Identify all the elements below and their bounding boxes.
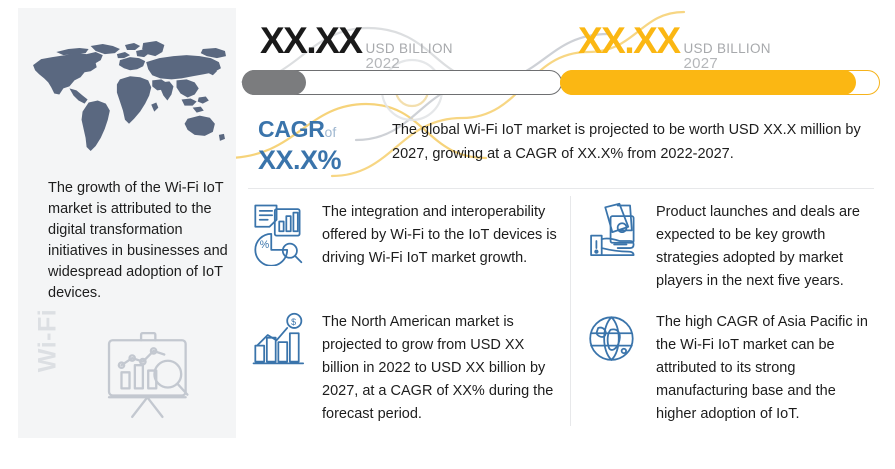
insight-card-2: Product launches and deals are expected …: [584, 200, 880, 293]
stat-2022-year: 2022: [366, 56, 453, 71]
stat-2027-unit-block: USD BILLION 2027: [684, 41, 771, 71]
insight-card-3: $ The North American market is projected…: [250, 310, 560, 426]
insight-card-2-text: Product launches and deals are expected …: [656, 200, 880, 293]
stat-2022-bar-track: [242, 70, 562, 95]
stat-2022-value: XX.XX: [260, 22, 362, 60]
cagr-label: CAGR: [258, 116, 325, 142]
vertical-divider: [570, 196, 571, 426]
stat-2022-unit-block: USD BILLION 2022: [366, 41, 453, 71]
cagr-value: XX.X%: [258, 145, 398, 175]
cagr-description: The global Wi-Fi IoT market is projected…: [392, 118, 872, 166]
globe-icon: [584, 310, 646, 376]
presentation-analytics-icon: [96, 326, 204, 424]
sidebar-panel: The growth of the Wi-Fi IoT market is at…: [18, 8, 236, 438]
stat-2022: XX.XX USD BILLION 2022: [242, 22, 562, 95]
stat-2022-unit: USD BILLION: [366, 41, 453, 56]
sidebar-description: The growth of the Wi-Fi IoT market is at…: [48, 178, 228, 304]
stat-2027-value: XX.XX: [578, 22, 680, 60]
stat-2027-bar-fill: [560, 70, 856, 95]
hand-holding-money-icon: [584, 200, 646, 266]
insight-card-1-text: The integration and interoperability off…: [322, 200, 560, 270]
stat-2027-bar-track: [560, 70, 880, 95]
insight-card-4-text: The high CAGR of Asia Pacific in the Wi-…: [656, 310, 880, 426]
stat-2027-unit: USD BILLION: [684, 41, 771, 56]
wifi-watermark: Wi-Fi: [34, 303, 63, 379]
cagr-row: CAGRof XX.X% The global Wi-Fi IoT market…: [236, 112, 886, 186]
insight-card-4: The high CAGR of Asia Pacific in the Wi-…: [584, 310, 880, 426]
stat-2027: XX.XX USD BILLION 2027: [560, 22, 880, 95]
main-panel: XX.XX USD BILLION 2022 XX.XX USD BILLION…: [236, 8, 886, 438]
world-map-icon: [26, 32, 228, 162]
growth-bar-chart-dollar-icon: $: [250, 310, 312, 376]
report-chart-percent-search-icon: %: [250, 200, 312, 266]
svg-text:$: $: [291, 317, 296, 327]
horizontal-divider: [248, 188, 874, 189]
svg-text:%: %: [260, 239, 270, 251]
cagr-label-line: CAGRof: [258, 116, 398, 145]
stats-row: XX.XX USD BILLION 2022 XX.XX USD BILLION…: [236, 8, 886, 108]
cagr-block: CAGRof XX.X%: [258, 116, 398, 175]
stat-2022-bar-fill: [242, 70, 306, 95]
insight-card-1: % The integration and interoperability o…: [250, 200, 560, 270]
infographic-root: The growth of the Wi-Fi IoT market is at…: [0, 0, 895, 469]
insight-card-3-text: The North American market is projected t…: [322, 310, 560, 426]
stat-2027-year: 2027: [684, 56, 771, 71]
cagr-of: of: [325, 124, 337, 140]
